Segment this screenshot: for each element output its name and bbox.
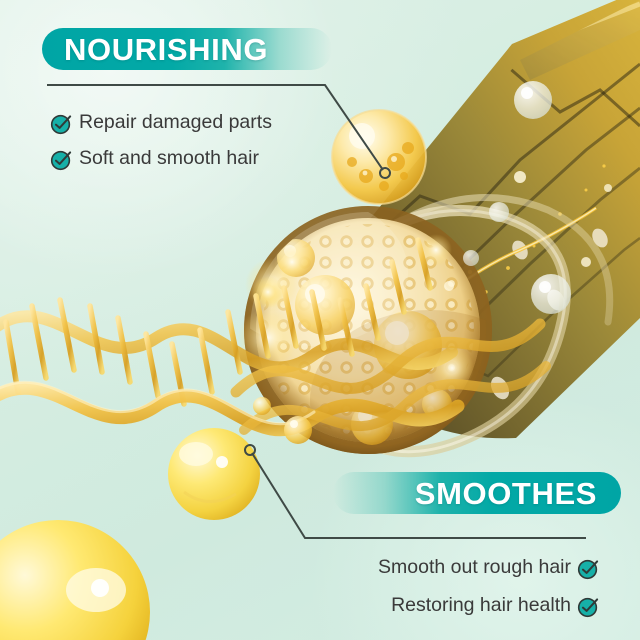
list-item[interactable]: Restoring hair health — [378, 591, 600, 621]
badge-nourishing-label: NOURISHING — [64, 34, 268, 65]
leader-anchor-bottom — [245, 445, 255, 455]
badge-smoothes-label: SMOOTHES — [415, 478, 597, 509]
leader-lines — [0, 0, 640, 640]
list-item-label: Repair damaged parts — [79, 113, 272, 133]
badge-smoothes[interactable]: SMOOTHES — [333, 472, 621, 514]
list-item[interactable]: Smooth out rough hair — [378, 553, 600, 583]
check-circle-icon — [577, 557, 600, 580]
feature-list-smoothes: Smooth out rough hair Restoring hair hea… — [378, 553, 600, 629]
infographic-canvas: NOURISHING Repair damaged parts Soft and… — [0, 0, 640, 640]
list-item[interactable]: Soft and smooth hair — [50, 144, 272, 174]
list-item-label: Smooth out rough hair — [378, 558, 571, 578]
check-circle-icon — [50, 148, 73, 171]
feature-list-nourishing: Repair damaged parts Soft and smooth hai… — [50, 108, 272, 180]
list-item[interactable]: Repair damaged parts — [50, 108, 272, 138]
list-item-label: Restoring hair health — [391, 596, 571, 616]
badge-nourishing[interactable]: NOURISHING — [42, 28, 332, 70]
check-circle-icon — [50, 112, 73, 135]
leader-anchor-top — [380, 168, 390, 178]
list-item-label: Soft and smooth hair — [79, 149, 259, 169]
check-circle-icon — [577, 595, 600, 618]
callout-overlay: NOURISHING Repair damaged parts Soft and… — [0, 0, 640, 640]
